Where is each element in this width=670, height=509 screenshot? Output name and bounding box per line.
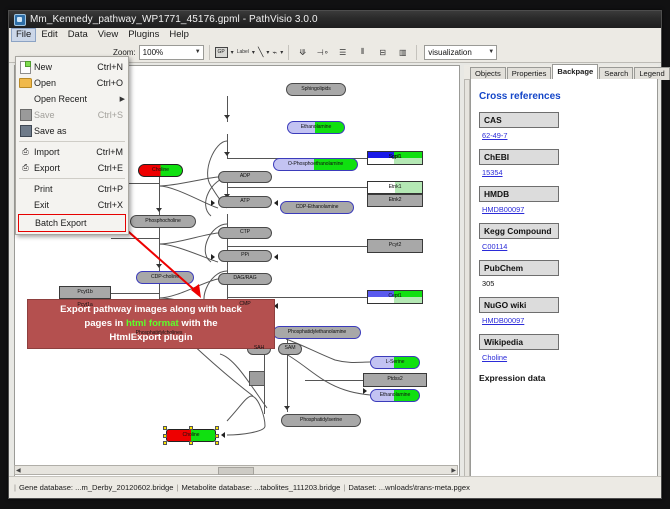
menu-item-save: Save Ctrl+S bbox=[16, 107, 128, 123]
open-folder-icon bbox=[19, 77, 32, 89]
gene-etnk1[interactable]: Etnk1 bbox=[367, 181, 423, 194]
xref-value-wikipedia[interactable]: Choline bbox=[479, 353, 649, 362]
expression-data-label: Expression data bbox=[479, 373, 649, 383]
annotation-callout: Export pathway images along with back pa… bbox=[27, 299, 275, 349]
menu-data[interactable]: Data bbox=[63, 28, 93, 42]
menu-item-new[interactable]: New Ctrl+N bbox=[16, 59, 128, 75]
group-icon[interactable]: ⊟ bbox=[374, 44, 391, 61]
menu-item-import[interactable]: ⎙ Import Ctrl+M bbox=[16, 144, 128, 160]
menu-item-print[interactable]: Print Ctrl+P bbox=[16, 181, 128, 197]
toolbar-separator bbox=[288, 45, 289, 60]
callout-line-2: pages in html format with the bbox=[60, 317, 242, 331]
canvas-hscrollbar[interactable]: ◀ ▶ bbox=[14, 465, 458, 475]
toolbar-separator bbox=[416, 45, 417, 60]
file-menu-dropdown[interactable]: New Ctrl+N Open Ctrl+O Open Recent ▶ Sav… bbox=[15, 56, 129, 235]
visualization-combo[interactable]: visualization ▼ bbox=[424, 45, 497, 60]
menu-edit[interactable]: Edit bbox=[36, 28, 62, 42]
gene-ptdss2[interactable]: Ptdss2 bbox=[363, 373, 427, 387]
side-panel: Objects Properties Backpage Search Legen… bbox=[464, 65, 658, 477]
callout-line-2-post: with the bbox=[179, 318, 218, 329]
xref-header-wikipedia: Wikipedia bbox=[479, 334, 559, 350]
callout-line-2-pre: pages in bbox=[84, 318, 126, 329]
menu-plugins[interactable]: Plugins bbox=[123, 28, 164, 42]
menu-file[interactable]: File bbox=[11, 28, 36, 42]
menu-item-open-recent[interactable]: Open Recent ▶ bbox=[16, 91, 128, 107]
window-title: Mm_Kennedy_pathway_WP1771_45176.gpml - P… bbox=[30, 11, 318, 28]
screenshot-frame: Mm_Kennedy_pathway_WP1771_45176.gpml - P… bbox=[0, 0, 670, 509]
scroll-thumb[interactable] bbox=[218, 467, 254, 475]
cross-references-title: Cross references bbox=[479, 91, 649, 102]
xref-value-chebi[interactable]: 15354 bbox=[479, 168, 649, 177]
menu-item-open[interactable]: Open Ctrl+O bbox=[16, 75, 128, 91]
xref-value-kegg-compound[interactable]: C00114 bbox=[479, 242, 649, 251]
line-icon[interactable]: ╲ bbox=[258, 47, 263, 58]
title-bar: Mm_Kennedy_pathway_WP1771_45176.gpml - P… bbox=[9, 11, 661, 28]
chevron-down-icon: ▼ bbox=[488, 49, 494, 55]
order-icon[interactable]: ▥ bbox=[394, 44, 411, 61]
datanode-icon[interactable]: GP bbox=[215, 47, 228, 58]
scroll-left-icon[interactable]: ◀ bbox=[15, 467, 22, 474]
menu-separator bbox=[19, 141, 125, 142]
status-bar: | Gene database: ...m_Derby_20120602.bri… bbox=[9, 476, 661, 498]
toolbar-separator bbox=[209, 45, 210, 60]
chevron-down-icon[interactable]: ▾ bbox=[231, 49, 234, 56]
anchor-block[interactable] bbox=[249, 371, 265, 386]
save-disk-icon bbox=[19, 109, 32, 121]
tab-backpage[interactable]: Backpage bbox=[552, 64, 598, 79]
submenu-arrow-icon: ▶ bbox=[120, 95, 125, 103]
status-dataset: Dataset: ...wnloads\trans-meta.pgex bbox=[345, 483, 473, 492]
pathvisio-icon bbox=[14, 14, 26, 26]
gene-etnk2[interactable]: Etnk2 bbox=[367, 194, 423, 207]
distribute-vertical-icon[interactable]: ☰ bbox=[334, 44, 351, 61]
menu-bar: File Edit Data View Plugins Help bbox=[9, 28, 661, 43]
chevron-down-icon: ▼ bbox=[195, 49, 201, 55]
scroll-right-icon[interactable]: ▶ bbox=[450, 467, 457, 474]
backpage-content: Cross references CAS 62-49-7 ChEBI 15354… bbox=[470, 79, 658, 477]
panel-tabs: Objects Properties Backpage Search Legen… bbox=[470, 65, 658, 80]
pathvisio-window: Mm_Kennedy_pathway_WP1771_45176.gpml - P… bbox=[8, 10, 662, 499]
status-metabolite-database: Metabolite database: ...tabolites_111203… bbox=[178, 483, 343, 492]
menu-item-export[interactable]: ⎙ Export Ctrl+E bbox=[16, 160, 128, 176]
visualization-value: visualization bbox=[428, 48, 472, 57]
menu-item-save-as[interactable]: Save as bbox=[16, 123, 128, 139]
gene-pcyt1b[interactable]: Pcyt1b bbox=[59, 286, 111, 299]
xref-value-pubchem: 305 bbox=[479, 279, 649, 288]
callout-line-2-highlight: html format bbox=[126, 318, 179, 329]
menu-view[interactable]: View bbox=[93, 28, 123, 42]
menu-item-batch-export[interactable]: Batch Export bbox=[18, 214, 126, 232]
label-button[interactable]: Label bbox=[237, 49, 249, 55]
zoom-value: 100% bbox=[143, 48, 163, 57]
xref-value-nugo-wiki[interactable]: HMDB00097 bbox=[479, 316, 649, 325]
xref-value-cas[interactable]: 62-49-7 bbox=[479, 131, 649, 140]
chevron-down-icon[interactable]: ▾ bbox=[252, 49, 255, 56]
export-icon: ⎙ bbox=[19, 162, 32, 174]
gene-sgpl1[interactable]: Sgpl1 Sgpl1 bbox=[367, 151, 423, 165]
new-file-icon bbox=[19, 61, 32, 73]
import-icon: ⎙ bbox=[19, 146, 32, 158]
status-gene-database: Gene database: ...m_Derby_20120602.bridg… bbox=[16, 483, 177, 492]
chevron-down-icon[interactable]: ▾ bbox=[266, 49, 269, 56]
zoom-combo[interactable]: 100% ▼ bbox=[139, 45, 204, 60]
xref-header-hmdb: HMDB bbox=[479, 186, 559, 202]
menu-help[interactable]: Help bbox=[164, 28, 194, 42]
xref-value-hmdb[interactable]: HMDB00097 bbox=[479, 205, 649, 214]
xref-header-kegg-compound: Kegg Compound bbox=[479, 223, 559, 239]
xref-header-nugo-wiki: NuGO wiki bbox=[479, 297, 559, 313]
align-left-icon[interactable]: ⊣∘ bbox=[314, 44, 331, 61]
gene-cept1[interactable]: Cept1 bbox=[367, 290, 423, 304]
menu-separator bbox=[19, 178, 125, 179]
align-center-icon[interactable]: ⟱ bbox=[294, 44, 311, 61]
menu-item-exit[interactable]: Exit Ctrl+X bbox=[16, 197, 128, 213]
gene-pcyt2[interactable]: Pcyt2 bbox=[367, 239, 423, 253]
interaction-icon[interactable]: ⌁ bbox=[272, 48, 277, 57]
chevron-down-icon[interactable]: ▾ bbox=[280, 49, 283, 56]
save-as-disk-icon bbox=[19, 125, 32, 137]
xref-header-cas: CAS bbox=[479, 112, 559, 128]
stack-icon[interactable]: ⦀ bbox=[354, 44, 371, 61]
xref-header-chebi: ChEBI bbox=[479, 149, 559, 165]
xref-header-pubchem: PubChem bbox=[479, 260, 559, 276]
